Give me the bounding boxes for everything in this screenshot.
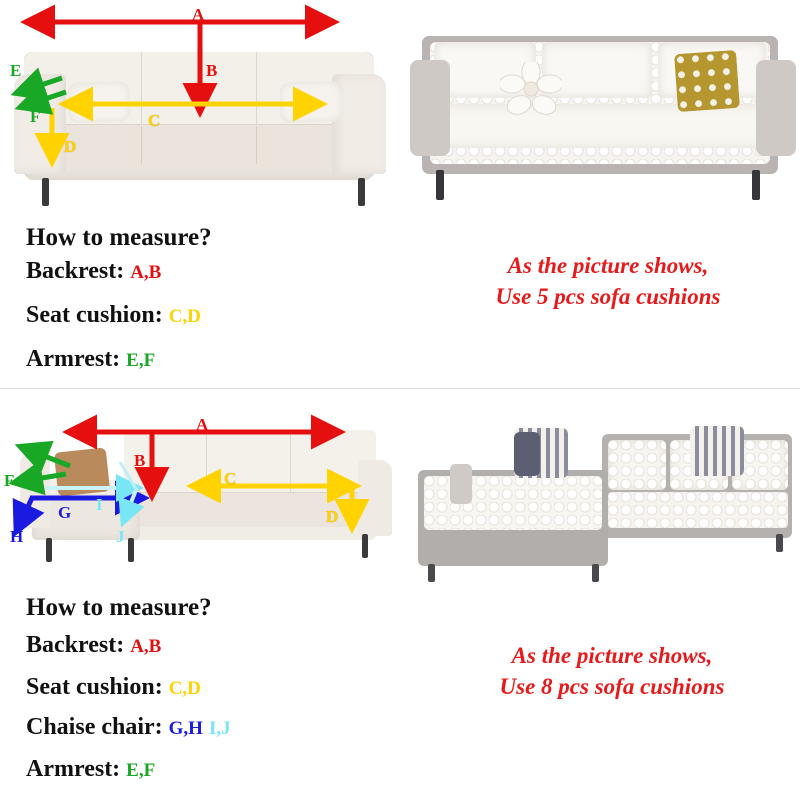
howto-label: Seat cushion: — [26, 302, 163, 328]
label-D-top: D — [64, 138, 76, 155]
caption-line-1: As the picture shows, — [452, 250, 764, 281]
photo-sofa-leg — [776, 534, 783, 552]
label-E-bottom: E — [26, 444, 37, 461]
photo-seat-cushion — [608, 492, 788, 528]
howto-label: Backrest: — [26, 258, 124, 284]
label-I-bottom: I — [96, 496, 103, 513]
section-divider — [0, 388, 800, 389]
seat-seam — [141, 126, 142, 164]
backrest-seam — [256, 52, 257, 124]
striped-pillow — [690, 426, 744, 476]
white-bubble-sofa-cover-photo — [404, 20, 796, 206]
backrest-seam — [206, 432, 207, 492]
polka-dot-pillow — [674, 50, 740, 112]
photo-back-cushion — [608, 440, 666, 490]
photo-sofa-leg — [428, 564, 435, 582]
photo-seat-cushion — [430, 104, 770, 148]
caption-top: As the picture shows, Use 5 pcs sofa cus… — [452, 250, 764, 312]
photo-armrest-right — [756, 60, 796, 156]
howto-row-armrest-bottom: Armrest: E,F — [26, 756, 155, 783]
howto-row-seat-top: Seat cushion: C,D — [26, 302, 201, 329]
infographic-page: A B C D E F How to measure? Backrest: A,… — [0, 0, 800, 800]
grey-pillow — [514, 432, 540, 476]
label-B-bottom: B — [134, 452, 145, 469]
howto-keys: G,H — [169, 718, 203, 739]
caption-line-1: As the picture shows, — [452, 640, 772, 671]
backrest-seam — [141, 52, 142, 124]
howto-keys: A,B — [130, 636, 161, 657]
label-H-bottom: H — [10, 528, 23, 545]
label-D-bottom: D — [326, 508, 338, 525]
label-C-top: C — [148, 112, 160, 129]
howto-keys: A,B — [130, 262, 161, 283]
sofa-armrest-left — [20, 454, 50, 528]
three-seat-sofa-illustration — [6, 22, 396, 202]
flower-pillow-icon — [500, 62, 562, 118]
howto-label: Seat cushion: — [26, 674, 163, 700]
brown-pillow — [54, 447, 110, 496]
howto-title-top: How to measure? — [26, 224, 212, 252]
howto-row-chaise-bottom: Chaise chair: G,H I,J — [26, 714, 231, 741]
caption-line-2: Use 5 pcs sofa cushions — [452, 281, 764, 312]
sofa-seat-cushion — [28, 124, 370, 167]
sofa-leg — [358, 178, 365, 206]
howto-title-bottom: How to measure? — [26, 594, 212, 622]
photo-armrest-left — [450, 464, 472, 504]
label-F-top: F — [30, 108, 40, 125]
sofa-leg — [128, 538, 134, 562]
sofa-pillow — [67, 81, 130, 123]
l-shape-sofa-illustration — [6, 408, 398, 584]
howto-row-backrest-bottom: Backrest: A,B — [26, 632, 161, 659]
howto-keys-secondary: I,J — [209, 718, 231, 739]
label-E-top: E — [10, 62, 21, 79]
sofa-pillow — [279, 81, 342, 123]
label-A-top: A — [192, 6, 204, 23]
howto-keys: C,D — [169, 678, 201, 699]
howto-keys: E,F — [126, 350, 155, 371]
howto-row-armrest-top: Armrest: E,F — [26, 346, 155, 373]
label-J-bottom: J — [116, 528, 125, 545]
label-A-bottom: A — [196, 416, 208, 433]
seat-seam — [256, 126, 257, 164]
howto-label: Chaise chair: — [26, 714, 163, 740]
bubble-texture — [608, 440, 666, 490]
howto-label: Backrest: — [26, 632, 124, 658]
label-B-top: B — [206, 62, 217, 79]
howto-label: Armrest: — [26, 756, 120, 782]
label-F-bottom: F — [4, 472, 14, 489]
photo-armrest-left — [410, 60, 450, 156]
howto-keys: E,F — [126, 760, 155, 781]
caption-line-2: Use 8 pcs sofa cushions — [452, 671, 772, 702]
sofa-leg — [46, 538, 52, 562]
l-shape-bubble-sofa-cover-photo — [404, 406, 796, 584]
sofa-armrest-right — [358, 460, 392, 536]
label-C-bottom: C — [224, 470, 236, 487]
howto-label: Armrest: — [26, 346, 120, 372]
howto-keys: C,D — [169, 306, 201, 327]
label-G-bottom: G — [58, 504, 71, 521]
photo-sofa-leg — [436, 170, 444, 200]
howto-row-seat-bottom: Seat cushion: C,D — [26, 674, 201, 701]
howto-row-backrest-top: Backrest: A,B — [26, 258, 161, 285]
sofa-backrest — [124, 430, 376, 493]
caption-bottom: As the picture shows, Use 8 pcs sofa cus… — [452, 640, 772, 702]
sofa-leg — [362, 534, 368, 558]
bubble-texture — [608, 492, 788, 528]
photo-sofa-leg — [752, 170, 760, 200]
photo-sofa-leg — [592, 564, 599, 582]
backrest-seam — [290, 432, 291, 492]
sofa-leg — [42, 178, 49, 206]
